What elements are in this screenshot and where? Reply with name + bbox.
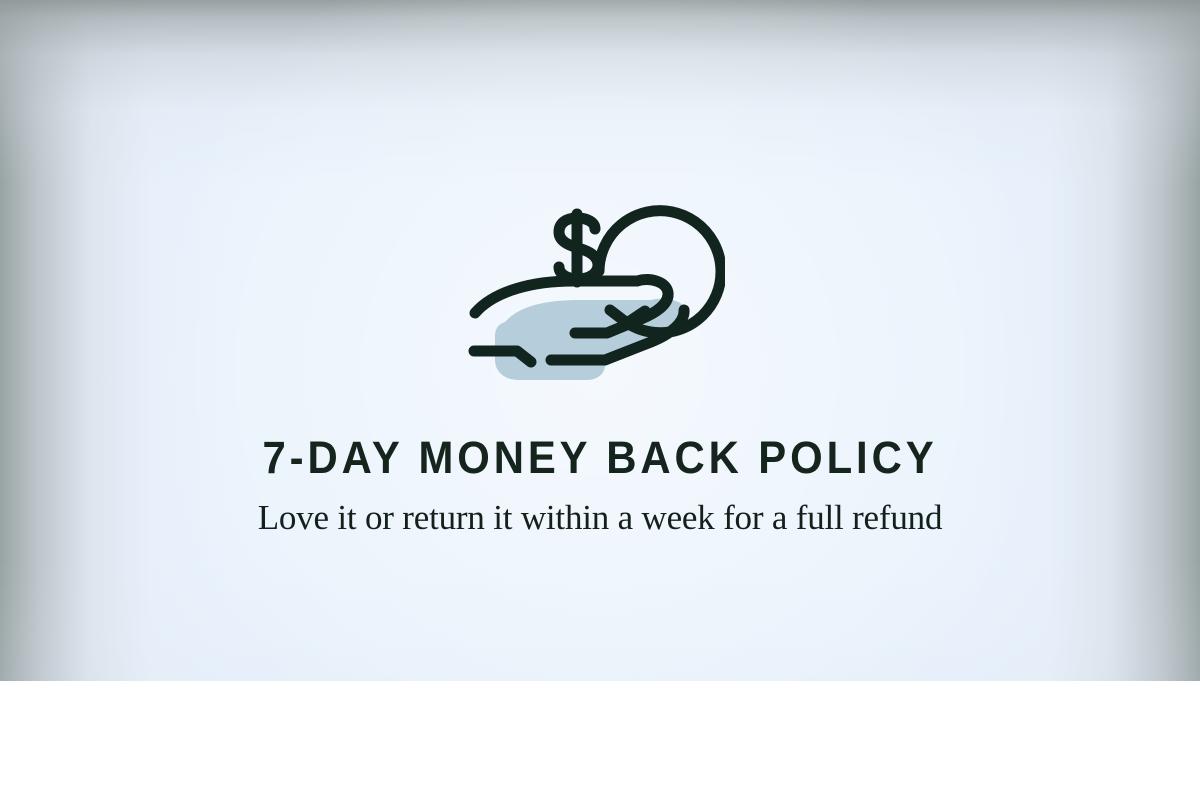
promo-card: 7-DAY MONEY BACK POLICY Love it or retur… [0,0,1200,800]
background-center-glow [0,0,1200,800]
hand-holding-money-return-icon [455,150,725,390]
page-title: 7-DAY MONEY BACK POLICY [42,432,1158,484]
page-subtitle: Love it or return it within a week for a… [243,494,957,541]
footer-bar: Rydell (701) 772-7211 rydellchev.com [0,681,1200,800]
